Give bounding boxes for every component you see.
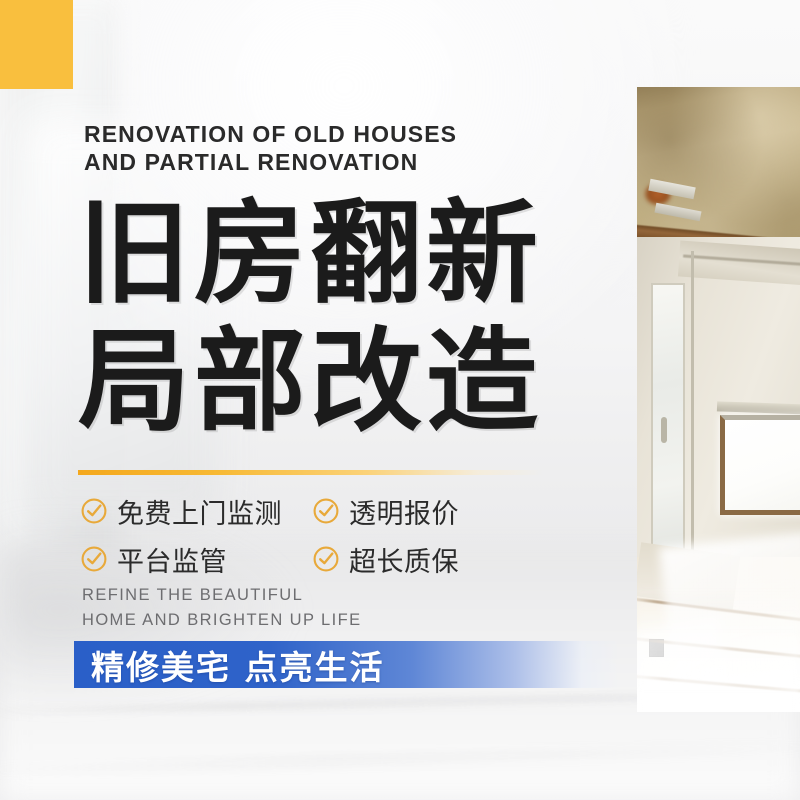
eyebrow-heading: RENOVATION OF OLD HOUSES AND PARTIAL REN… <box>84 120 554 176</box>
feature-label: 免费上门监测 <box>117 492 282 531</box>
feature-label: 平台监管 <box>117 540 227 579</box>
photo-door-glass <box>651 283 685 572</box>
check-circle-icon <box>80 497 108 525</box>
eyebrow-line-1: RENOVATION OF OLD HOUSES <box>84 120 554 148</box>
check-circle-icon <box>312 545 340 573</box>
eyebrow-line-2: AND PARTIAL RENOVATION <box>84 148 554 176</box>
check-circle-icon <box>80 545 108 573</box>
photo-window <box>720 415 800 515</box>
headline-line-1: 旧房翻新 <box>78 198 542 310</box>
feature-item: 平台监管 <box>80 535 312 583</box>
feature-item: 超长质保 <box>312 535 544 583</box>
orange-divider <box>78 470 543 475</box>
check-circle-icon <box>312 497 340 525</box>
photo-bottom-fade <box>637 582 800 712</box>
feature-label: 超长质保 <box>349 540 459 579</box>
subtitle-block: REFINE THE BEAUTIFUL HOME AND BRIGHTEN U… <box>82 583 362 633</box>
photo-door-handle <box>661 417 667 443</box>
subtitle-line-2: HOME AND BRIGHTEN UP LIFE <box>82 608 362 633</box>
headline-line-2: 局部改造 <box>78 326 542 438</box>
feature-list: 免费上门监测 透明报价 平台监管 <box>80 487 550 583</box>
yellow-corner-block <box>0 0 73 89</box>
feature-item: 免费上门监测 <box>80 487 312 535</box>
slogan-banner: 精修美宅 点亮生活 <box>74 641 620 688</box>
subtitle-line-1: REFINE THE BEAUTIFUL <box>82 583 362 608</box>
slogan-text: 精修美宅 点亮生活 <box>74 641 385 689</box>
poster-canvas: RENOVATION OF OLD HOUSES AND PARTIAL REN… <box>0 0 800 800</box>
feature-label: 透明报价 <box>349 492 459 531</box>
feature-item: 透明报价 <box>312 487 544 535</box>
interior-renovation-photo <box>637 87 800 712</box>
